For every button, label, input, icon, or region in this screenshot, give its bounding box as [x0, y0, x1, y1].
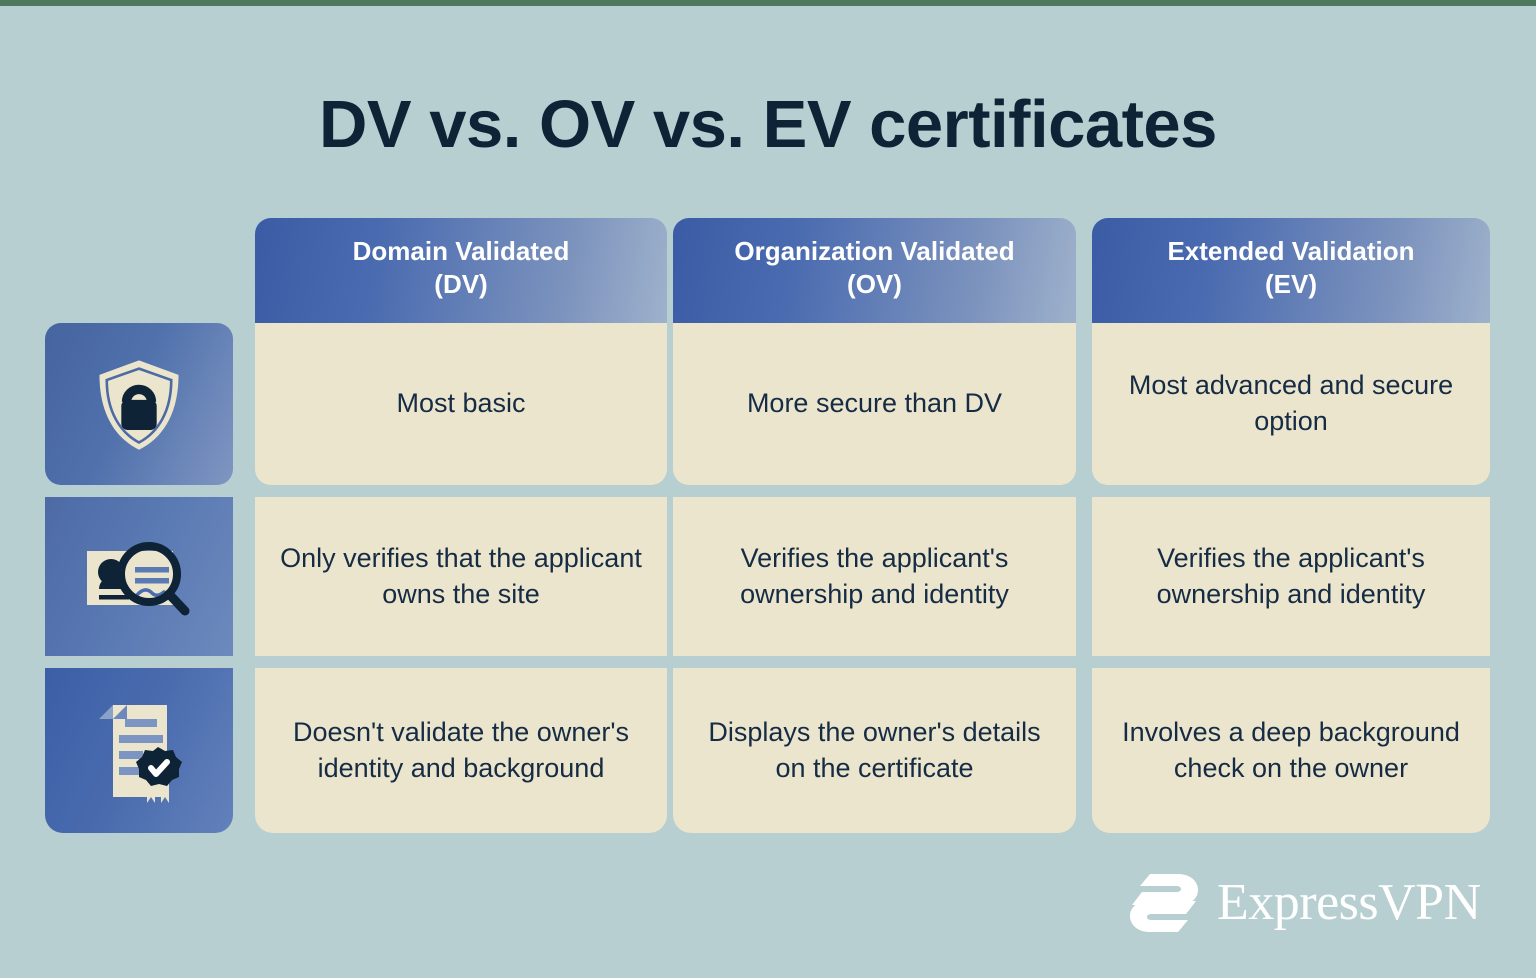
cell-ov-row3: Displays the owner's details on the cert…: [673, 668, 1076, 833]
shield-lock-icon: [87, 352, 191, 456]
cell-ev-row2: Verifies the applicant's ownership and i…: [1092, 497, 1490, 656]
column-header-ev-abbr: (EV): [1092, 268, 1490, 301]
top-accent-rule: [0, 0, 1536, 6]
cell-dv-row3: Doesn't validate the owner's identity an…: [255, 668, 667, 833]
cell-dv-row2: Only verifies that the applicant owns th…: [255, 497, 667, 656]
cell-dv-row1: Most basic: [255, 323, 667, 485]
column-header-dv-abbr: (DV): [255, 268, 667, 301]
column-header-ev: Extended Validation (EV): [1092, 218, 1490, 330]
column-header-ov-abbr: (OV): [673, 268, 1076, 301]
column-header-ev-name: Extended Validation: [1092, 235, 1490, 268]
id-card-magnifier-icon: [81, 527, 197, 627]
cell-ov-row2: Verifies the applicant's ownership and i…: [673, 497, 1076, 656]
column-header-dv: Domain Validated (DV): [255, 218, 667, 330]
cell-ev-row1: Most advanced and secure option: [1092, 323, 1490, 485]
expressvpn-logo: ExpressVPN: [1128, 872, 1481, 934]
comparison-table: Domain Validated (DV) Organization Valid…: [45, 218, 1490, 833]
certificate-seal-icon: [89, 697, 189, 805]
row-icon-id-verify: [45, 497, 233, 656]
row-icon-certificate: [45, 668, 233, 833]
expressvpn-wordmark: ExpressVPN: [1217, 877, 1481, 929]
expressvpn-logo-mark: [1128, 872, 1200, 934]
cell-ev-row3: Involves a deep background check on the …: [1092, 668, 1490, 833]
column-header-dv-name: Domain Validated: [255, 235, 667, 268]
cell-ov-row1: More secure than DV: [673, 323, 1076, 485]
column-header-ov-name: Organization Validated: [673, 235, 1076, 268]
page-title: DV vs. OV vs. EV certificates: [0, 88, 1536, 162]
row-icon-shield-lock: [45, 323, 233, 485]
column-header-ov: Organization Validated (OV): [673, 218, 1076, 330]
